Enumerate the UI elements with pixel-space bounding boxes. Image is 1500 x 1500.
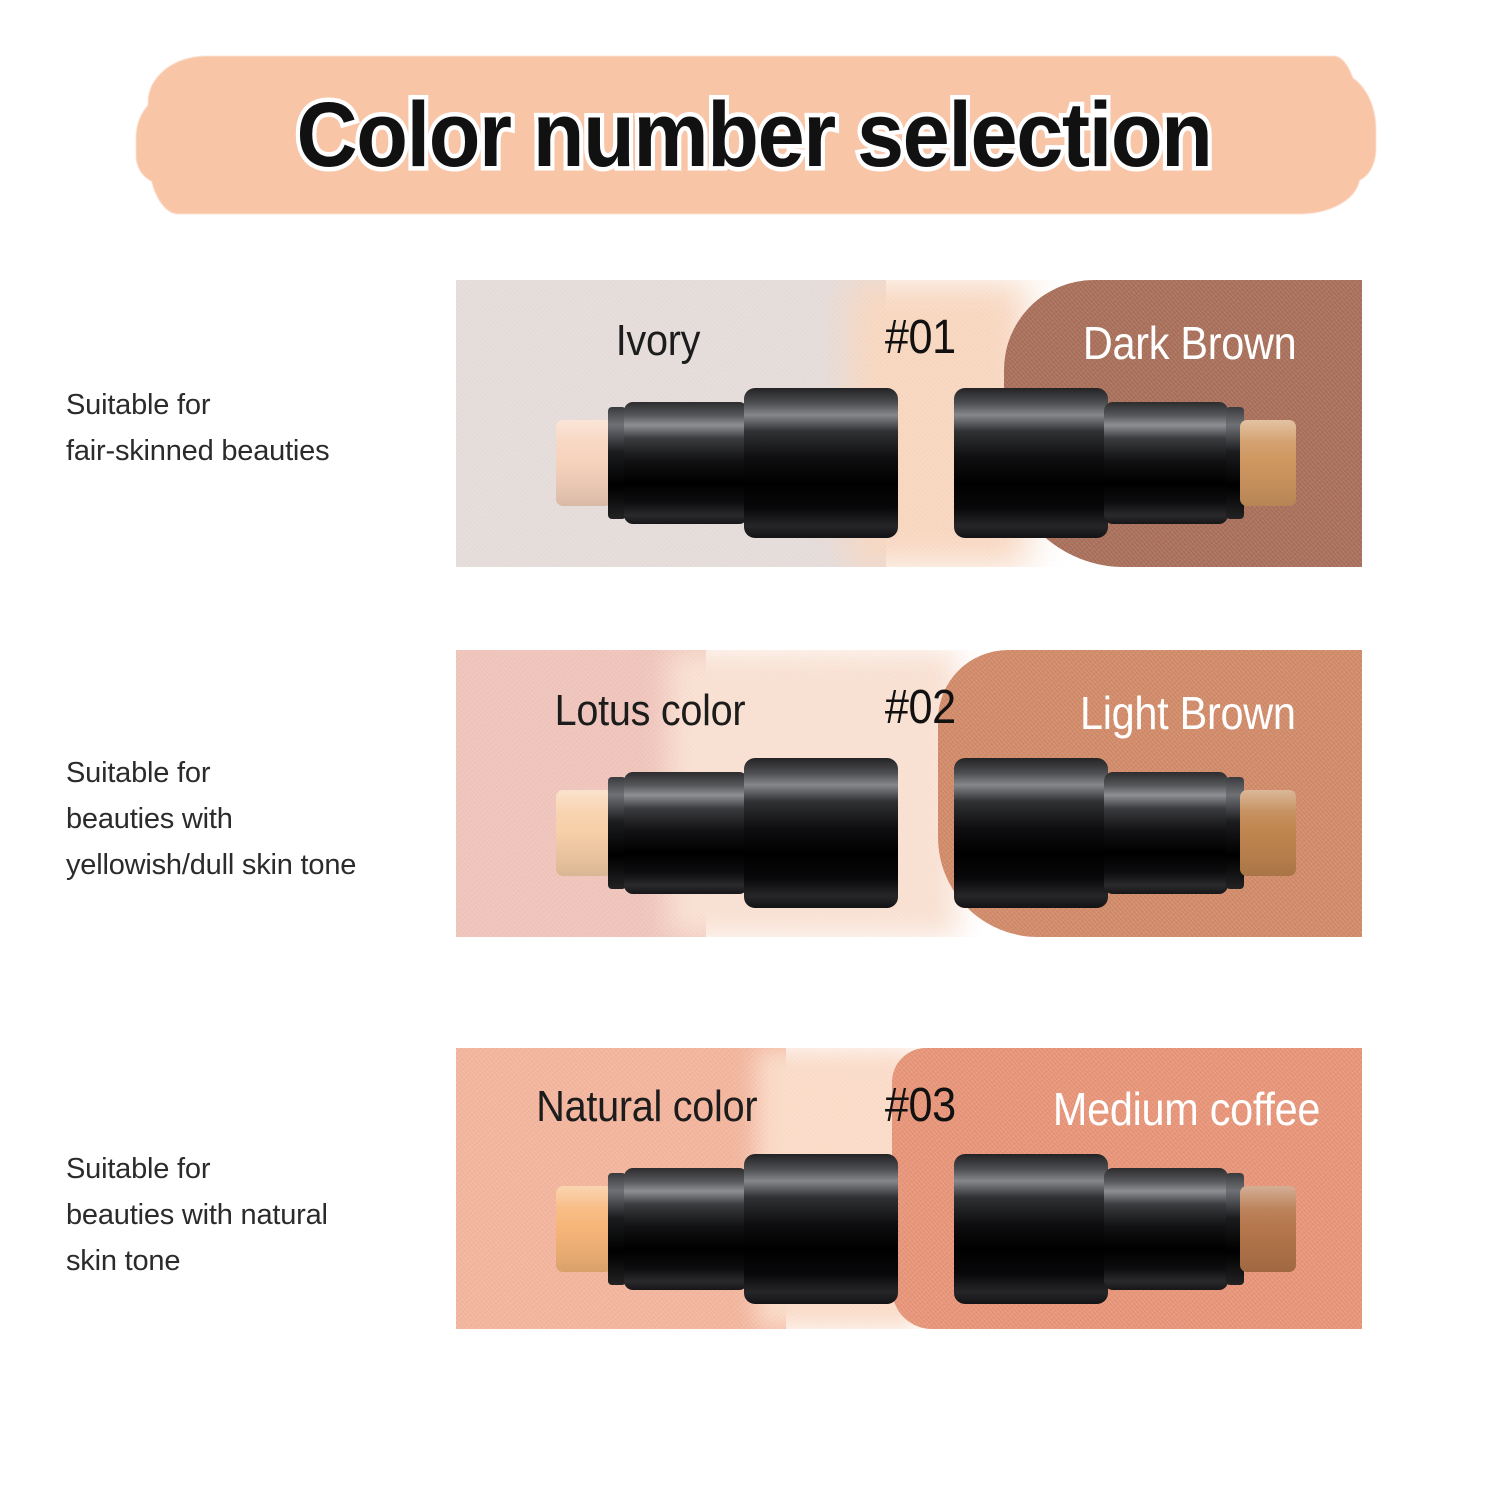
stick-body-right bbox=[954, 1154, 1108, 1304]
product-stick-left[interactable] bbox=[456, 1048, 916, 1329]
product-stick-right[interactable] bbox=[916, 650, 1362, 937]
product-tip-left bbox=[556, 790, 612, 876]
product-tip-right bbox=[1240, 420, 1296, 506]
product-tip-right bbox=[1240, 790, 1296, 876]
shade-panel-01[interactable]: Ivory #01 Dark Brown bbox=[456, 280, 1362, 567]
stick-barrel-right bbox=[1104, 772, 1228, 894]
description-line: Suitable for bbox=[66, 750, 466, 796]
stick-barrel-left bbox=[624, 402, 748, 524]
description-line: beauties with bbox=[66, 796, 466, 842]
stick-body-right bbox=[954, 388, 1108, 538]
product-stick-left[interactable] bbox=[456, 650, 916, 937]
description-block-02: Suitable for beauties with yellowish/dul… bbox=[66, 750, 466, 888]
page-title: Color number selection bbox=[196, 56, 1311, 214]
description-line: Suitable for bbox=[66, 382, 466, 428]
stick-barrel-left bbox=[624, 772, 748, 894]
stick-body-right bbox=[954, 758, 1108, 908]
title-banner: Color number selection bbox=[148, 56, 1360, 214]
stick-barrel-right bbox=[1104, 402, 1228, 524]
stick-body-left bbox=[744, 388, 898, 538]
product-stick-right[interactable] bbox=[916, 280, 1362, 567]
product-tip-left bbox=[556, 1186, 612, 1272]
infographic-page: Color number selection Suitable for fair… bbox=[0, 0, 1500, 1500]
shade-panel-02[interactable]: Lotus color #02 Light Brown bbox=[456, 650, 1362, 937]
description-line: Suitable for bbox=[66, 1146, 466, 1192]
stick-barrel-left bbox=[624, 1168, 748, 1290]
description-line: fair-skinned beauties bbox=[66, 428, 466, 474]
description-line: beauties with natural bbox=[66, 1192, 466, 1238]
shade-panel-03[interactable]: Natural color #03 Medium coffee bbox=[456, 1048, 1362, 1329]
stick-body-left bbox=[744, 758, 898, 908]
description-line: yellowish/dull skin tone bbox=[66, 842, 466, 888]
description-block-01: Suitable for fair-skinned beauties bbox=[66, 382, 466, 474]
product-stick-left[interactable] bbox=[456, 280, 916, 567]
description-block-03: Suitable for beauties with natural skin … bbox=[66, 1146, 466, 1284]
product-tip-left bbox=[556, 420, 612, 506]
description-line: skin tone bbox=[66, 1238, 466, 1284]
product-tip-right bbox=[1240, 1186, 1296, 1272]
product-stick-right[interactable] bbox=[916, 1048, 1362, 1329]
stick-body-left bbox=[744, 1154, 898, 1304]
stick-barrel-right bbox=[1104, 1168, 1228, 1290]
